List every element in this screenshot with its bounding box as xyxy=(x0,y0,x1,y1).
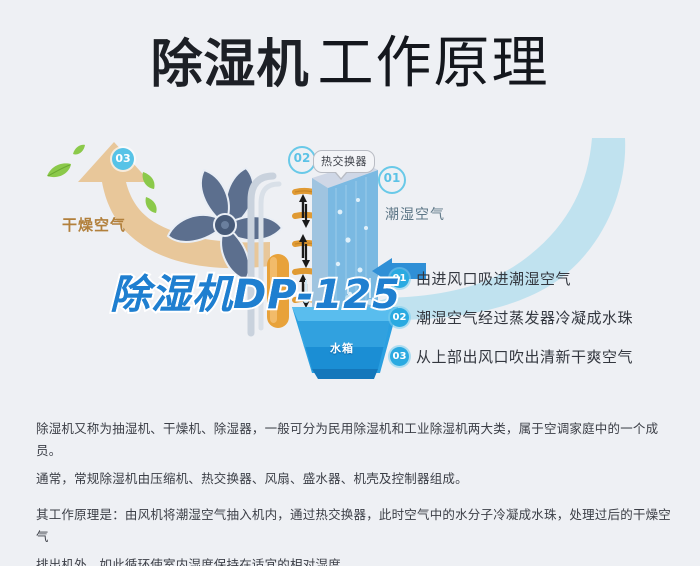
step-text-03: 从上部出风口吹出清新干爽空气 xyxy=(416,346,633,367)
infographic-page: 除湿机工作原理 xyxy=(0,0,700,566)
step-text-01: 由进风口吸进潮湿空气 xyxy=(416,268,571,289)
diagram-badge-02: 02 xyxy=(288,146,316,174)
humid-air-label: 潮湿空气 xyxy=(385,204,445,224)
paragraph-2-line-1: 其工作原理是：由风机将潮湿空气抽入机内，通过热交换器，此时空气中的水分子冷凝成水… xyxy=(36,504,676,548)
leaf-icon xyxy=(72,144,86,156)
step-badge-03: 03 xyxy=(390,347,409,366)
step-text-02: 潮湿空气经过蒸发器冷凝成水珠 xyxy=(416,307,633,328)
paragraph-1-line-1: 除湿机又称为抽湿机、干燥机、除湿器，一般可分为民用除湿机和工业除湿机两大类，属于… xyxy=(36,418,676,462)
heat-exchanger-callout: 热交换器 xyxy=(313,150,375,173)
diagram-badge-01: 01 xyxy=(378,166,406,194)
leaf-icon xyxy=(144,196,158,214)
leaf-icon xyxy=(140,170,156,190)
paragraph-1-line-2: 通常，常规除湿机由压缩机、热交换器、风扇、盛水器、机壳及控制器组成。 xyxy=(36,468,676,490)
water-tank-label: 水箱 xyxy=(330,340,354,356)
page-title-part2: 工作原理 xyxy=(318,33,550,95)
step-item: 01 由进风口吸进潮湿空气 xyxy=(390,268,690,289)
dry-air-label: 干燥空气 xyxy=(62,214,126,235)
leaf-icon xyxy=(46,162,72,180)
page-title-part1: 除湿机 xyxy=(150,35,309,95)
diagram-badge-03: 03 xyxy=(112,148,134,170)
paragraph-2-line-2: 排出机外，如此循环使室内湿度保持在适宜的相对湿度。 xyxy=(36,554,676,566)
step-item: 02 潮湿空气经过蒸发器冷凝成水珠 xyxy=(390,307,690,328)
page-title: 除湿机工作原理 xyxy=(0,18,700,99)
body-copy: 除湿机又称为抽湿机、干燥机、除湿器，一般可分为民用除湿机和工业除湿机两大类，属于… xyxy=(36,418,676,566)
step-list: 01 由进风口吸进潮湿空气 02 潮湿空气经过蒸发器冷凝成水珠 03 从上部出风… xyxy=(390,268,690,385)
watermark-text: 除湿机DP-125 xyxy=(110,262,401,320)
step-item: 03 从上部出风口吹出清新干爽空气 xyxy=(390,346,690,367)
